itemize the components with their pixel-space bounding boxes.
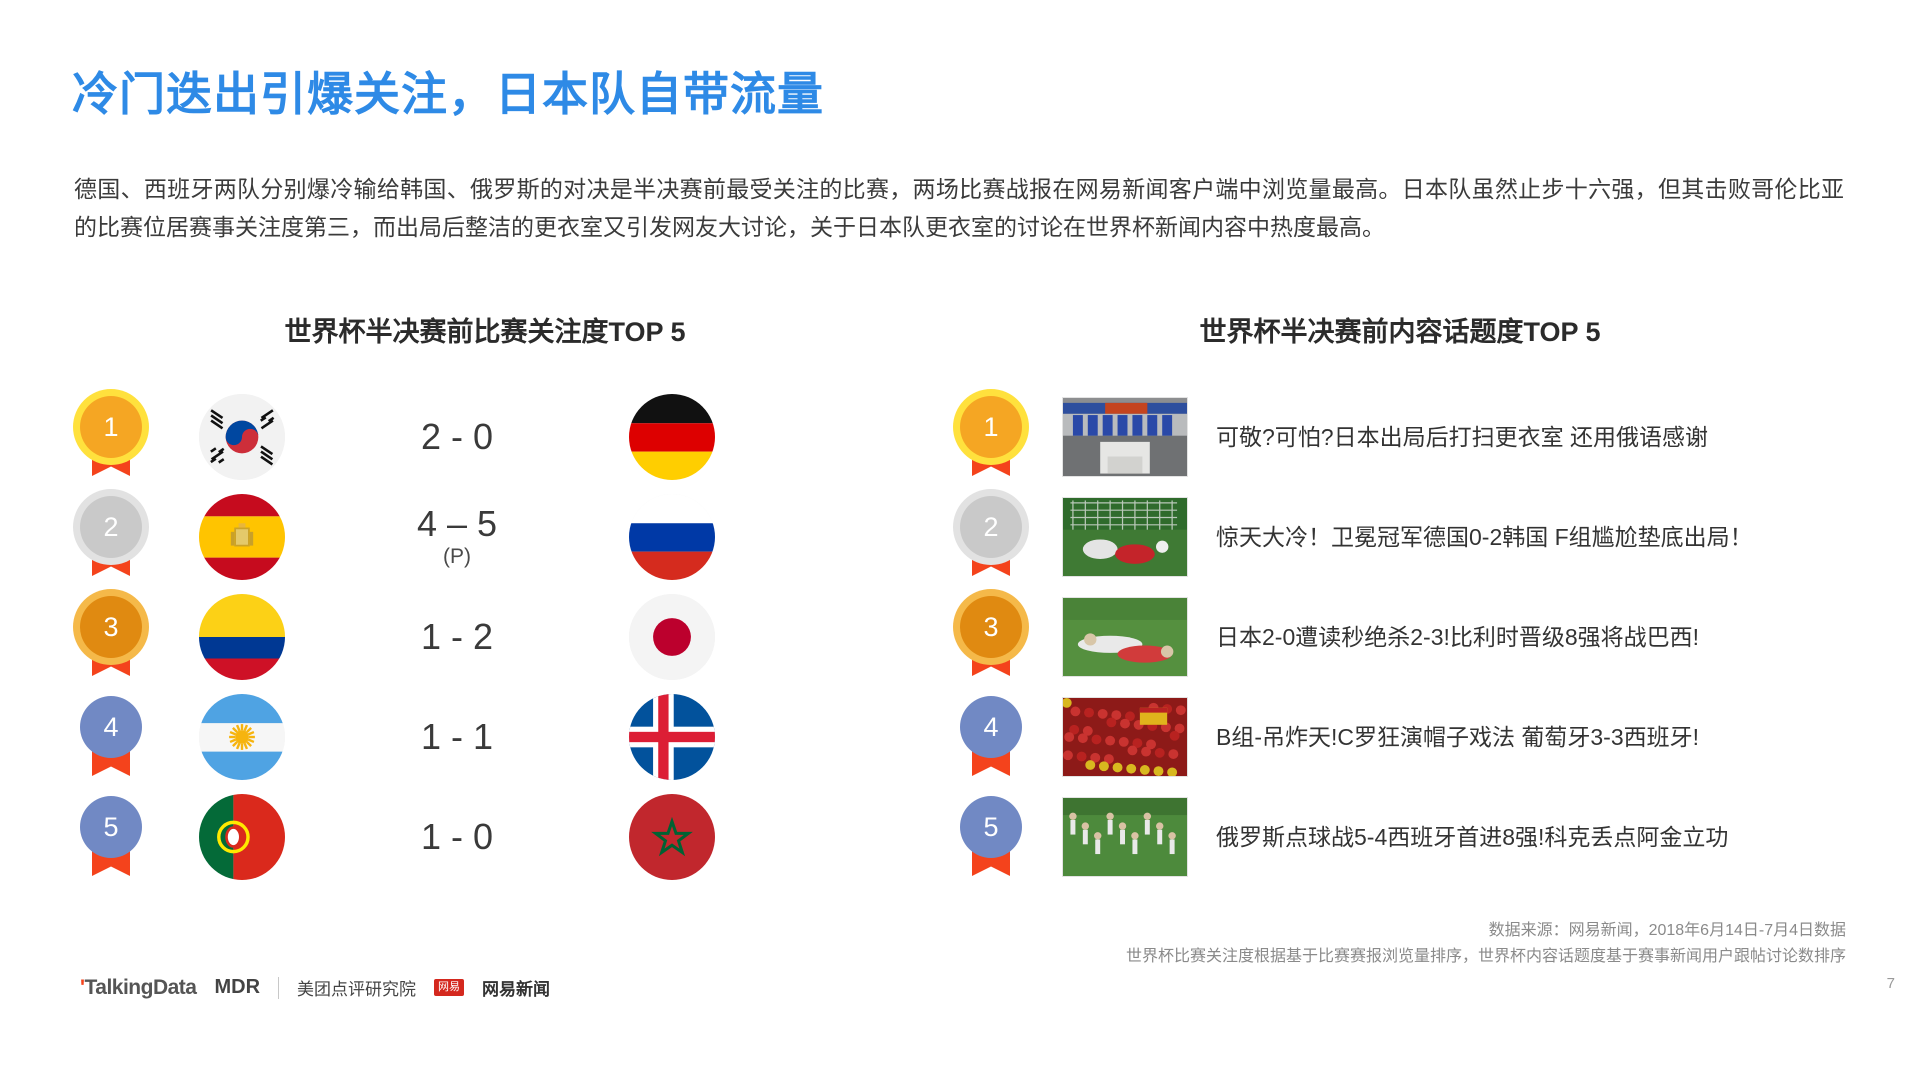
rank-number: 5 bbox=[960, 796, 1022, 858]
content-topic-panel: 世界杯半决赛前内容话题度TOP 5 1 可敬?可怕?日本出局后打扫更衣室 还用俄… bbox=[960, 310, 1840, 887]
source-line-1: 数据来源：网易新闻，2018年6月14日-7月4日数据 bbox=[1126, 918, 1846, 944]
news-row[interactable]: 2 惊天大冷！卫冕冠军德国0-2韩国 F组尴尬垫底出局！ bbox=[960, 487, 1840, 587]
flag-morocco-icon bbox=[629, 794, 715, 880]
news-headline[interactable]: 俄罗斯点球战5-4西班牙首进8强!科克丢点阿金立功 bbox=[1216, 820, 1776, 854]
meituan-research-logo: 美团点评研究院 bbox=[297, 975, 416, 1000]
flag-russia-icon bbox=[629, 494, 715, 580]
netease-badge-icon: 网易 bbox=[434, 979, 464, 996]
news-headline[interactable]: 可敬?可怕?日本出局后打扫更衣室 还用俄语感谢 bbox=[1216, 420, 1776, 454]
score-note: (P) bbox=[342, 544, 572, 570]
footer-logos: 'TalkingData MDR 美团点评研究院 网易 网易新闻 bbox=[80, 975, 550, 1000]
logo-divider bbox=[278, 977, 279, 999]
news-row[interactable]: 1 可敬?可怕?日本出局后打扫更衣室 还用俄语感谢 bbox=[960, 387, 1840, 487]
slide-page: 冷门迭出引爆关注，日本队自带流量 德国、西班牙两队分别爆冷输给韩国、俄罗斯的对决… bbox=[0, 0, 1921, 1080]
flag-argentina-icon bbox=[199, 694, 285, 780]
rank-number: 5 bbox=[80, 796, 142, 858]
away-team-flag-cell bbox=[572, 594, 772, 680]
match-score: 1 - 1 bbox=[342, 717, 572, 757]
left-panel-title: 世界杯半决赛前比赛关注度TOP 5 bbox=[80, 310, 890, 349]
red-crowd-photo bbox=[1062, 697, 1188, 777]
match-row: 3 1 - 2 bbox=[80, 587, 890, 687]
rank-badge-news-2: 2 bbox=[960, 496, 1022, 578]
mdr-logo: MDR bbox=[214, 976, 260, 999]
flag-spain-icon bbox=[199, 494, 285, 580]
news-row[interactable]: 5 俄罗斯点球战5-4西班牙首进8强!科克丢点阿金立功 bbox=[960, 787, 1840, 887]
news-row[interactable]: 3 日本2-0遭读秒绝杀2-3!比利时晋级8强将战巴西! bbox=[960, 587, 1840, 687]
rank-number: 4 bbox=[80, 696, 142, 758]
match-attention-panel: 世界杯半决赛前比赛关注度TOP 5 1 bbox=[80, 310, 890, 887]
rank-number: 1 bbox=[80, 396, 142, 458]
news-headline[interactable]: 惊天大冷！卫冕冠军德国0-2韩国 F组尴尬垫底出局！ bbox=[1216, 520, 1776, 554]
match-list: 1 2 - 0 bbox=[80, 387, 890, 887]
rank-badge-match-3: 3 bbox=[80, 596, 142, 678]
match-row: 5 1 - 0 bbox=[80, 787, 890, 887]
match-score: 2 - 0 bbox=[342, 417, 572, 457]
page-title: 冷门迭出引爆关注，日本队自带流量 bbox=[72, 58, 824, 124]
match-score: 1 - 0 bbox=[342, 817, 572, 857]
rank-number: 3 bbox=[80, 596, 142, 658]
page-number: 7 bbox=[1887, 975, 1895, 992]
home-team-flag-cell bbox=[142, 694, 342, 780]
match-row: 1 2 - 0 bbox=[80, 387, 890, 487]
rank-badge-match-2: 2 bbox=[80, 496, 142, 578]
news-headline[interactable]: B组-吊炸天!C罗狂演帽子戏法 葡萄牙3-3西班牙! bbox=[1216, 720, 1776, 754]
away-team-flag-cell bbox=[572, 494, 772, 580]
source-note: 数据来源：网易新闻，2018年6月14日-7月4日数据 世界杯比赛关注度根据基于… bbox=[1126, 918, 1846, 970]
rank-number: 2 bbox=[80, 496, 142, 558]
news-row[interactable]: 4 B组-吊炸天!C罗狂演帽子戏法 葡萄牙3-3西班牙! bbox=[960, 687, 1840, 787]
rank-badge-news-3: 3 bbox=[960, 596, 1022, 678]
home-team-flag-cell bbox=[142, 594, 342, 680]
match-row: 4 1 - 1 bbox=[80, 687, 890, 787]
flag-korea-icon bbox=[199, 394, 285, 480]
rank-badge-news-5: 5 bbox=[960, 796, 1022, 878]
rank-badge-match-1: 1 bbox=[80, 396, 142, 478]
match-score: 4 – 5 (P) bbox=[342, 504, 572, 570]
rank-badge-news-1: 1 bbox=[960, 396, 1022, 478]
players-on-grass-photo bbox=[1062, 597, 1188, 677]
flag-iceland-icon bbox=[629, 694, 715, 780]
rank-number: 4 bbox=[960, 696, 1022, 758]
rank-number: 2 bbox=[960, 496, 1022, 558]
intro-paragraph: 德国、西班牙两队分别爆冷输给韩国、俄罗斯的对决是半决赛前最受关注的比赛，两场比赛… bbox=[74, 170, 1844, 246]
match-row: 2 4 – 5 (P) bbox=[80, 487, 890, 587]
source-line-2: 世界杯比赛关注度根据基于比赛赛报浏览量排序，世界杯内容话题度基于赛事新闻用户跟帖… bbox=[1126, 944, 1846, 970]
news-list: 1 可敬?可怕?日本出局后打扫更衣室 还用俄语感谢 2 惊天大冷！卫冕冠军德国0… bbox=[960, 387, 1840, 887]
match-score: 1 - 2 bbox=[342, 617, 572, 657]
locker-room-photo bbox=[1062, 397, 1188, 477]
flag-japan-icon bbox=[629, 594, 715, 680]
flag-portugal-icon bbox=[199, 794, 285, 880]
rank-badge-match-4: 4 bbox=[80, 696, 142, 778]
rank-badge-news-4: 4 bbox=[960, 696, 1022, 778]
right-panel-title: 世界杯半决赛前内容话题度TOP 5 bbox=[960, 310, 1840, 349]
rank-badge-match-5: 5 bbox=[80, 796, 142, 878]
flag-colombia-icon bbox=[199, 594, 285, 680]
flag-germany-icon bbox=[629, 394, 715, 480]
talkingdata-logo: 'TalkingData bbox=[80, 976, 196, 1000]
goal-save-photo bbox=[1062, 497, 1188, 577]
away-team-flag-cell bbox=[572, 694, 772, 780]
celebration-photo bbox=[1062, 797, 1188, 877]
news-headline[interactable]: 日本2-0遭读秒绝杀2-3!比利时晋级8强将战巴西! bbox=[1216, 620, 1776, 654]
rank-number: 1 bbox=[960, 396, 1022, 458]
home-team-flag-cell bbox=[142, 394, 342, 480]
away-team-flag-cell bbox=[572, 794, 772, 880]
rank-number: 3 bbox=[960, 596, 1022, 658]
home-team-flag-cell bbox=[142, 794, 342, 880]
away-team-flag-cell bbox=[572, 394, 772, 480]
netease-news-logo: 网易新闻 bbox=[482, 975, 550, 1000]
home-team-flag-cell bbox=[142, 494, 342, 580]
